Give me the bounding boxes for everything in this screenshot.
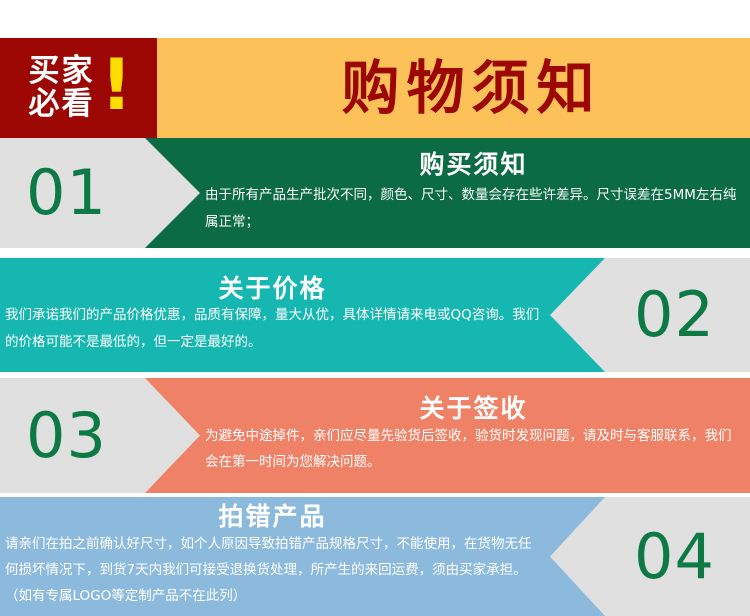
section-number-panel: 04 — [550, 497, 750, 616]
badge-char-3: 必 — [29, 88, 60, 121]
section-body: 请亲们在拍之前确认好尺寸，如个人原因导致拍错产品规格尺寸，不能使用，在货物无任何… — [5, 531, 540, 610]
section-title: 购买须知 — [205, 151, 742, 179]
must-read-badge-content: 买 家 必 看 ! — [25, 55, 133, 121]
section-number-panel: 02 — [550, 258, 750, 372]
page-title: 购物须知 — [305, 59, 601, 117]
badge-char-2: 家 — [62, 55, 93, 88]
badge-char-1: 买 — [29, 55, 60, 88]
notice-section-03: 03 关于签收 为避免中途掉件，亲们应尽量先验货后签收，验货时发现问题，请及时与… — [0, 378, 750, 493]
section-content: 拍错产品 请亲们在拍之前确认好尺寸，如个人原因导致拍错产品规格尺寸，不能使用，在… — [5, 497, 540, 616]
must-read-badge: 买 家 必 看 ! — [0, 38, 157, 138]
section-number: 03 — [26, 405, 107, 467]
section-number-panel: 01 — [0, 138, 200, 248]
shopping-notice-graphic: 买 家 必 看 ! 购物须知 01 购买须知 由于所有产品生产批次不同，颜色、尺… — [0, 0, 750, 616]
section-body: 由于所有产品生产批次不同，颜色、尺寸、数量会存在些许差异。尺寸误差在5MM左右纯… — [205, 182, 742, 235]
section-title: 拍错产品 — [5, 503, 540, 531]
section-number: 02 — [634, 284, 715, 346]
section-title: 关于价格 — [5, 275, 540, 303]
notice-section-04: 04 拍错产品 请亲们在拍之前确认好尺寸，如个人原因导致拍错产品规格尺寸，不能使… — [0, 497, 750, 616]
section-title: 关于签收 — [205, 395, 742, 423]
exclamation-icon: ! — [101, 57, 133, 114]
header-title-band: 购物须知 — [157, 38, 750, 138]
section-number: 01 — [26, 162, 107, 224]
section-content: 关于价格 我们承诺我们的产品价格优惠，品质有保障，量大从优，具体详情请来电或QQ… — [5, 258, 540, 372]
section-number: 04 — [634, 526, 715, 588]
section-content: 购买须知 由于所有产品生产批次不同，颜色、尺寸、数量会存在些许差异。尺寸误差在5… — [205, 138, 742, 248]
section-body: 我们承诺我们的产品价格优惠，品质有保障，量大从优，具体详情请来电或QQ咨询。我们… — [5, 302, 540, 355]
section-divider — [0, 248, 750, 258]
section-number-panel: 03 — [0, 378, 200, 493]
badge-char-4: 看 — [62, 88, 93, 121]
notice-section-01: 01 购买须知 由于所有产品生产批次不同，颜色、尺寸、数量会存在些许差异。尺寸误… — [0, 138, 750, 248]
section-content: 关于签收 为避免中途掉件，亲们应尽量先验货后签收，验货时发现问题，请及时与客服联… — [205, 378, 742, 493]
must-read-badge-text: 买 家 必 看 — [29, 55, 93, 121]
notice-section-02: 02 关于价格 我们承诺我们的产品价格优惠，品质有保障，量大从优，具体详情请来电… — [0, 258, 750, 372]
section-body: 为避免中途掉件，亲们应尽量先验货后签收，验货时发现问题，请及时与客服联系，我们会… — [205, 423, 742, 476]
header-banner: 买 家 必 看 ! 购物须知 — [0, 38, 750, 138]
